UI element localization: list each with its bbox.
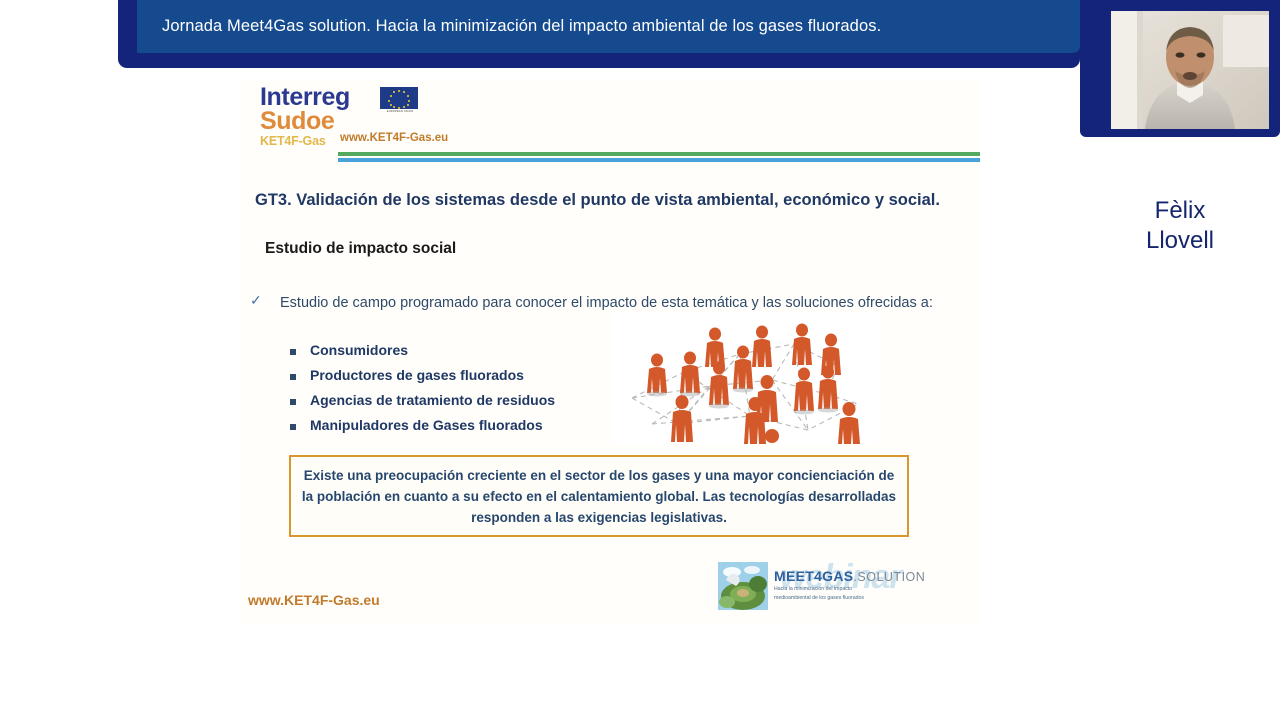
list-item: Consumidores: [290, 342, 555, 367]
speaker-webcam-video[interactable]: [1111, 11, 1269, 129]
network-illustration: [612, 312, 878, 444]
sub-bullet-label: Manipuladores de Gases fluorados: [310, 417, 543, 433]
meet4gas-tagline-1: Hacia la minimización del impacto: [774, 586, 925, 593]
speaker-name: Fèlix Llovell: [1080, 196, 1280, 256]
slide-footer-url[interactable]: www.KET4F-Gas.eu: [248, 592, 380, 608]
sponsor-logo-bar: Financia Organizan Interreg Sudoe EUROPE…: [0, 620, 1280, 720]
speaker-last-name: Llovell: [1080, 226, 1280, 256]
square-bullet-icon: [290, 349, 296, 355]
square-bullet-icon: [290, 374, 296, 380]
highlight-callout-text: Existe una preocupación creciente en el …: [291, 465, 907, 528]
list-item: Agencias de tratamiento de residuos: [290, 392, 555, 417]
list-item: Productores de gases fluorados: [290, 367, 555, 392]
speaker-panel: Fèlix Llovell: [1080, 0, 1280, 290]
eu-flag-icon: EUROPEAN UNION: [380, 87, 420, 115]
meet4gas-earth-photo: [718, 562, 768, 610]
check-icon: ✓: [250, 292, 262, 309]
meet4gas-logo: MEET4GAS.SOLUTION Hacia la minimización …: [718, 562, 960, 612]
speaker-video-frame[interactable]: [1080, 0, 1280, 137]
square-bullet-icon: [290, 424, 296, 430]
list-item: Manipuladores de Gases fluorados: [290, 417, 555, 442]
logo-sudoe-text: Sudoe: [260, 109, 460, 134]
slide-subheading: Estudio de impacto social: [265, 240, 456, 258]
webcam-still-image: [1111, 11, 1269, 129]
slide-canvas: Interreg Sudoe KET4F-Gas EUROPEAN UNION …: [240, 80, 980, 625]
page-title: Jornada Meet4Gas solution. Hacia la mini…: [137, 17, 881, 36]
sub-bullet-label: Productores de gases fluorados: [310, 367, 524, 383]
earth-photo-image: [718, 562, 768, 610]
meet4gas-name-bold: MEET4GAS: [774, 568, 853, 584]
slide-header-url[interactable]: www.KET4F-Gas.eu: [340, 132, 448, 144]
divider-green: [338, 152, 980, 156]
sub-bullet-list: Consumidores Productores de gases fluora…: [290, 342, 555, 442]
highlight-callout-box: Existe una preocupación creciente en el …: [289, 455, 909, 537]
eu-flag-caption: EUROPEAN UNION: [380, 110, 420, 113]
meet4gas-name: MEET4GAS.SOLUTION: [774, 568, 925, 584]
network-of-people-image: [612, 312, 878, 444]
meet4gas-name-light: .SOLUTION: [853, 570, 925, 584]
sub-bullet-label: Consumidores: [310, 342, 408, 358]
meet4gas-tagline-2: medioambiental de los gases fluorados: [774, 595, 925, 602]
speaker-first-name: Fèlix: [1080, 196, 1280, 226]
interreg-sudoe-logo: Interreg Sudoe KET4F-Gas EUROPEAN UNION: [260, 85, 460, 155]
presentation-title-bar: Jornada Meet4Gas solution. Hacia la mini…: [137, 0, 1080, 53]
logo-interreg-text: Interreg: [260, 85, 460, 109]
meet4gas-wordmark: MEET4GAS.SOLUTION Hacia la minimización …: [774, 568, 925, 602]
square-bullet-icon: [290, 399, 296, 405]
eu-flag-field: [380, 87, 418, 109]
divider-blue: [338, 158, 980, 162]
slide-heading: GT3. Validación de los sistemas desde el…: [255, 188, 945, 212]
sub-bullet-label: Agencias de tratamiento de residuos: [310, 392, 555, 408]
